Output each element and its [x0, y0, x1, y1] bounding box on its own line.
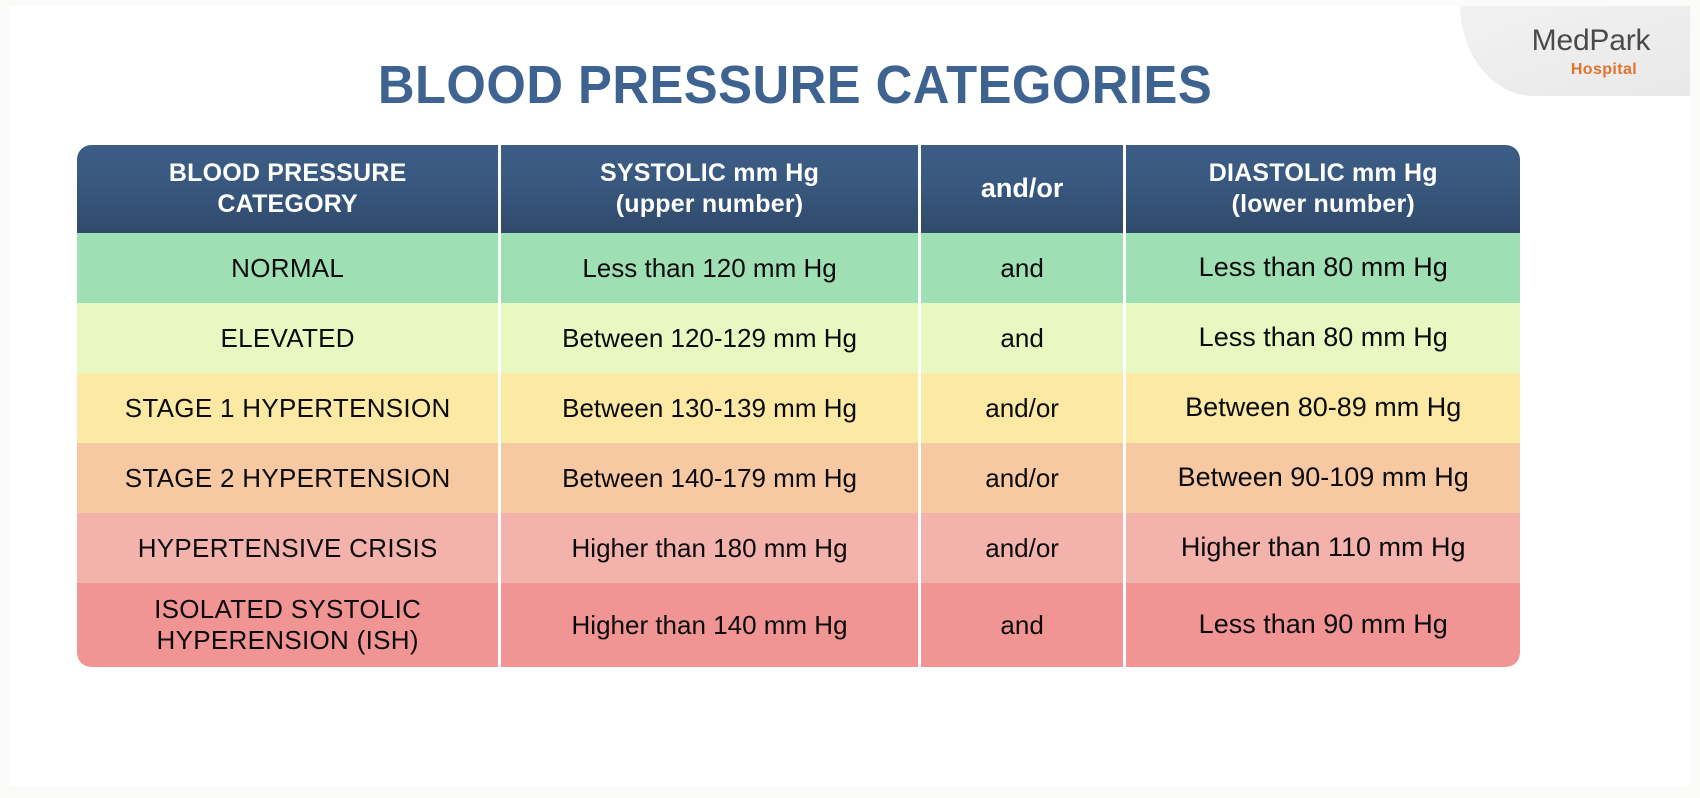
cell-operator-text: and [1000, 253, 1043, 283]
cell-operator-text: and/or [985, 463, 1059, 493]
cell-systolic-text: Less than 120 mm Hg [582, 253, 836, 283]
cell-operator: and [921, 583, 1124, 667]
header-cell-operator: and/or [921, 145, 1124, 233]
cell-category-text: ELEVATED [220, 323, 354, 353]
cell-diastolic-text: Higher than 110 mm Hg [1181, 532, 1466, 563]
cell-diastolic: Less than 80 mm Hg [1126, 303, 1520, 373]
cell-operator-text: and [1000, 323, 1043, 353]
cell-systolic: Between 140-179 mm Hg [501, 443, 917, 513]
table-row: HYPERTENSIVE CRISIS Higher than 180 mm H… [77, 513, 1520, 583]
cell-diastolic-text: Less than 90 mm Hg [1199, 609, 1448, 640]
cell-operator: and [921, 303, 1124, 373]
cell-operator: and/or [921, 373, 1124, 443]
header-category-line2: CATEGORY [169, 189, 407, 220]
cell-diastolic-text: Between 80-89 mm Hg [1185, 392, 1461, 423]
table-row: NORMAL Less than 120 mm Hg and Less than… [77, 233, 1520, 303]
cell-systolic: Higher than 180 mm Hg [501, 513, 917, 583]
page-title: BLOOD PRESSURE CATEGORIES [57, 54, 1533, 116]
cell-systolic-text: Between 140-179 mm Hg [562, 463, 857, 493]
header-diastolic-line2: (lower number) [1209, 189, 1438, 220]
table-header-row: BLOOD PRESSURE CATEGORY SYSTOLIC mm Hg (… [77, 145, 1520, 233]
cell-systolic-text: Higher than 180 mm Hg [572, 533, 848, 563]
cell-diastolic-text: Less than 80 mm Hg [1199, 322, 1448, 353]
cell-category: HYPERTENSIVE CRISIS [77, 513, 498, 583]
cell-category-text: STAGE 2 HYPERTENSION [125, 463, 451, 493]
cell-diastolic-text: Between 90-109 mm Hg [1178, 462, 1469, 493]
header-operator-label: and/or [981, 172, 1064, 205]
table-row: STAGE 2 HYPERTENSION Between 140-179 mm … [77, 443, 1520, 513]
header-systolic-line1: SYSTOLIC mm Hg [600, 158, 819, 189]
logo-sub-name: Hospital [1571, 62, 1637, 78]
cell-category-text: STAGE 1 HYPERTENSION [125, 393, 451, 423]
header-category-line1: BLOOD PRESSURE [169, 158, 407, 189]
table-row: STAGE 1 HYPERTENSION Between 130-139 mm … [77, 373, 1520, 443]
cell-systolic-text: Higher than 140 mm Hg [572, 610, 848, 640]
cell-systolic: Between 120-129 mm Hg [501, 303, 917, 373]
cell-category-text-line2: HYPERENSION (ISH) [154, 625, 421, 656]
cell-systolic: Less than 120 mm Hg [501, 233, 917, 303]
header-cell-systolic: SYSTOLIC mm Hg (upper number) [501, 145, 917, 233]
cell-category-text: NORMAL [231, 253, 344, 283]
cell-operator: and [921, 233, 1124, 303]
header-systolic-line2: (upper number) [600, 189, 819, 220]
cell-operator-text: and [1000, 610, 1043, 640]
table-row: ELEVATED Between 120-129 mm Hg and Less … [77, 303, 1520, 373]
cell-operator: and/or [921, 513, 1124, 583]
cell-category: STAGE 2 HYPERTENSION [77, 443, 498, 513]
cell-operator-text: and/or [985, 533, 1059, 563]
cell-diastolic-text: Less than 80 mm Hg [1199, 252, 1448, 283]
cell-category-text: ISOLATED SYSTOLIC [154, 594, 421, 625]
cell-diastolic: Less than 80 mm Hg [1126, 233, 1520, 303]
cell-category: ELEVATED [77, 303, 498, 373]
cell-diastolic: Between 80-89 mm Hg [1126, 373, 1520, 443]
cell-operator-text: and/or [985, 393, 1059, 423]
cell-category: STAGE 1 HYPERTENSION [77, 373, 498, 443]
cell-systolic: Between 130-139 mm Hg [501, 373, 917, 443]
table-row: ISOLATED SYSTOLIC HYPERENSION (ISH) High… [77, 583, 1520, 667]
header-cell-category: BLOOD PRESSURE CATEGORY [77, 145, 498, 233]
blood-pressure-table: BLOOD PRESSURE CATEGORY SYSTOLIC mm Hg (… [77, 145, 1520, 667]
cell-diastolic: Between 90-109 mm Hg [1126, 443, 1520, 513]
cell-diastolic: Higher than 110 mm Hg [1126, 513, 1520, 583]
header-diastolic-line1: DIASTOLIC mm Hg [1209, 158, 1438, 189]
cell-category-text: HYPERTENSIVE CRISIS [138, 533, 438, 563]
cell-diastolic: Less than 90 mm Hg [1126, 583, 1520, 667]
infographic-canvas: MedPark Hospital BLOOD PRESSURE CATEGORI… [0, 0, 1700, 798]
cell-category: ISOLATED SYSTOLIC HYPERENSION (ISH) [77, 583, 498, 667]
cell-systolic-text: Between 120-129 mm Hg [562, 323, 857, 353]
cell-systolic: Higher than 140 mm Hg [501, 583, 917, 667]
cell-systolic-text: Between 130-139 mm Hg [562, 393, 857, 423]
logo-brand-name: MedPark [1532, 26, 1651, 56]
header-cell-diastolic: DIASTOLIC mm Hg (lower number) [1126, 145, 1520, 233]
cell-operator: and/or [921, 443, 1124, 513]
cell-category: NORMAL [77, 233, 498, 303]
